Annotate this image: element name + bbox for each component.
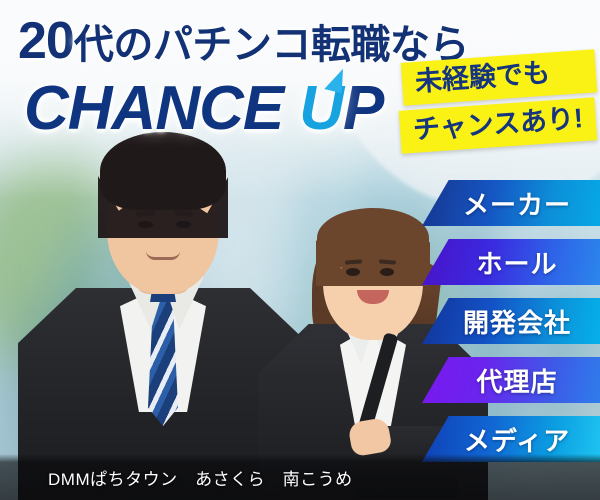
category-label: メディア <box>452 421 570 458</box>
badge-line-1: 未経験でも <box>401 49 598 105</box>
category-label: 開発会社 <box>451 303 571 340</box>
man-eye-left <box>138 221 153 228</box>
credit-text: DMMぱちタウン あさくら 南こうめ <box>0 465 353 490</box>
credit-bar: DMMぱちタウン あさくら 南こうめ <box>0 454 600 500</box>
category-item-agency[interactable]: 代理店 <box>422 357 600 403</box>
category-label: メーカー <box>451 185 571 222</box>
man-eye-right <box>176 221 191 228</box>
logo-word-chance: CHANCE <box>24 78 283 140</box>
category-item-maker[interactable]: メーカー <box>422 180 600 226</box>
category-item-development-company[interactable]: 開発会社 <box>422 298 600 344</box>
headline-number: 20 <box>18 18 74 66</box>
category-item-hall[interactable]: ホール <box>422 239 600 285</box>
logo-letter-u: U <box>299 78 343 140</box>
no-experience-badge: 未経験でも チャンスあり! <box>402 56 596 147</box>
advertisement-banner: 20 代のパチンコ転職なら CHANCE U P 未経験でも チャンスあり! メ… <box>0 0 600 500</box>
woman-eye-right <box>380 268 394 276</box>
category-list: メーカー ホール 開発会社 代理店 メディア <box>422 180 600 462</box>
badge-line-2: チャンスあり! <box>399 97 598 154</box>
chance-up-logo: CHANCE U P <box>24 78 383 140</box>
man-mouth <box>146 251 180 260</box>
category-label: 代理店 <box>464 362 557 399</box>
category-label: ホール <box>464 244 557 281</box>
logo-letter-p: P <box>343 78 383 140</box>
woman-eye-left <box>346 268 360 276</box>
